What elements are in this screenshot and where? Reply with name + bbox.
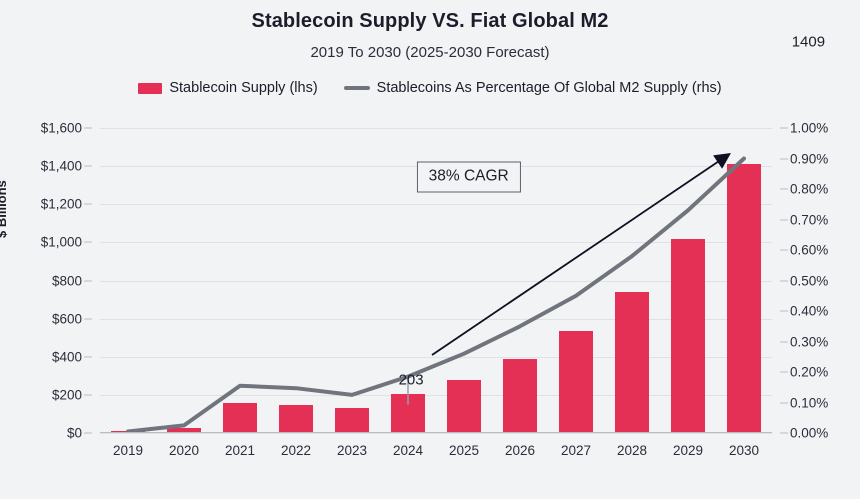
bar-2029[interactable]: [671, 239, 706, 433]
y-axis-right-tickmark: [780, 341, 788, 342]
x-axis-tick-2025: 2025: [449, 443, 479, 458]
y-axis-left-tick: $600: [52, 311, 82, 326]
bar-2027[interactable]: [559, 331, 594, 433]
chart-title: Stablecoin Supply VS. Fiat Global M2: [0, 10, 860, 33]
bar-2021[interactable]: [223, 403, 258, 433]
y-axis-left-tick: $400: [52, 349, 82, 364]
bar-2023[interactable]: [335, 408, 370, 433]
y-axis-right-tickmark: [780, 311, 788, 312]
x-axis-tick-2028: 2028: [617, 443, 647, 458]
x-axis-baseline: [100, 432, 772, 433]
y-axis-left-tickmark: [84, 318, 92, 319]
x-axis-tick-2027: 2027: [561, 443, 591, 458]
x-axis-tick-2019: 2019: [113, 443, 143, 458]
bar-2028[interactable]: [615, 292, 650, 433]
data-label-2030: 1409: [792, 34, 825, 51]
bar-2026[interactable]: [503, 359, 538, 433]
x-axis: 2019202020212022202320242025202620272028…: [100, 443, 772, 469]
y-axis-right-tickmark: [780, 372, 788, 373]
bar-2024[interactable]: [391, 394, 426, 433]
bar-2025[interactable]: [447, 380, 482, 433]
y-axis-right-tick: 0.00%: [790, 426, 828, 441]
x-axis-tick-2021: 2021: [225, 443, 255, 458]
y-axis-right: 0.00%0.10%0.20%0.30%0.40%0.50%0.60%0.70%…: [780, 128, 854, 433]
gridline: [100, 433, 772, 434]
y-axis-left-tick: $1,400: [41, 159, 82, 174]
y-axis-right-tickmark: [780, 158, 788, 159]
bar-2022[interactable]: [279, 405, 314, 433]
y-axis-right-tick: 0.90%: [790, 151, 828, 166]
y-axis-right-tick: 0.40%: [790, 304, 828, 319]
legend-label-percentage-of-global-m2: Stablecoins As Percentage Of Global M2 S…: [377, 80, 722, 96]
y-axis-right-tick: 0.70%: [790, 212, 828, 227]
x-axis-tick-2029: 2029: [673, 443, 703, 458]
y-axis-left-tickmark: [84, 166, 92, 167]
y-axis-right-tickmark: [780, 402, 788, 403]
y-axis-right-tickmark: [780, 433, 788, 434]
line-swatch-icon: [344, 86, 370, 90]
legend-item-stablecoin-supply[interactable]: Stablecoin Supply (lhs): [138, 80, 317, 96]
y-axis-left: $0$200$400$600$800$1,000$1,200$1,400$1,6…: [0, 128, 92, 433]
y-axis-right-tickmark: [780, 189, 788, 190]
y-axis-left-tickmark: [84, 128, 92, 129]
y-axis-left-tick: $0: [67, 426, 82, 441]
bar-swatch-icon: [138, 83, 162, 94]
y-axis-right-tick: 1.00%: [790, 121, 828, 136]
x-axis-tick-2023: 2023: [337, 443, 367, 458]
y-axis-left-tickmark: [84, 204, 92, 205]
y-axis-right-tickmark: [780, 250, 788, 251]
y-axis-right-tickmark: [780, 128, 788, 129]
y-axis-right-tick: 0.10%: [790, 395, 828, 410]
y-axis-left-tick: $1,000: [41, 235, 82, 250]
x-axis-tick-2024: 2024: [393, 443, 423, 458]
y-axis-right-tick: 0.50%: [790, 273, 828, 288]
y-axis-left-tickmark: [84, 433, 92, 434]
chart-legend: Stablecoin Supply (lhs) Stablecoins As P…: [0, 80, 860, 96]
cagr-callout: 38% CAGR: [417, 162, 521, 193]
chart-container: Stablecoin Supply VS. Fiat Global M2 201…: [0, 0, 860, 499]
x-axis-tick-2026: 2026: [505, 443, 535, 458]
x-axis-tick-2030: 2030: [729, 443, 759, 458]
y-axis-left-tick: $1,600: [41, 121, 82, 136]
data-label-2024: 203: [399, 372, 424, 389]
legend-item-percentage-of-global-m2[interactable]: Stablecoins As Percentage Of Global M2 S…: [344, 80, 722, 96]
y-axis-right-tickmark: [780, 280, 788, 281]
y-axis-right-tick: 0.80%: [790, 182, 828, 197]
x-axis-tick-2020: 2020: [169, 443, 199, 458]
y-axis-left-tickmark: [84, 394, 92, 395]
y-axis-left-tick: $1,200: [41, 197, 82, 212]
y-axis-right-tick: 0.20%: [790, 365, 828, 380]
chart-subtitle: 2019 To 2030 (2025-2030 Forecast): [0, 44, 860, 61]
y-axis-left-tickmark: [84, 280, 92, 281]
y-axis-left-tickmark: [84, 356, 92, 357]
y-axis-right-tick: 0.60%: [790, 243, 828, 258]
legend-label-stablecoin-supply: Stablecoin Supply (lhs): [169, 80, 317, 96]
y-axis-right-tickmark: [780, 219, 788, 220]
y-axis-right-tick: 0.30%: [790, 334, 828, 349]
y-axis-left-tickmark: [84, 242, 92, 243]
y-axis-left-tick: $200: [52, 387, 82, 402]
y-axis-left-tick: $800: [52, 273, 82, 288]
bar-2030[interactable]: [727, 164, 762, 433]
x-axis-tick-2022: 2022: [281, 443, 311, 458]
